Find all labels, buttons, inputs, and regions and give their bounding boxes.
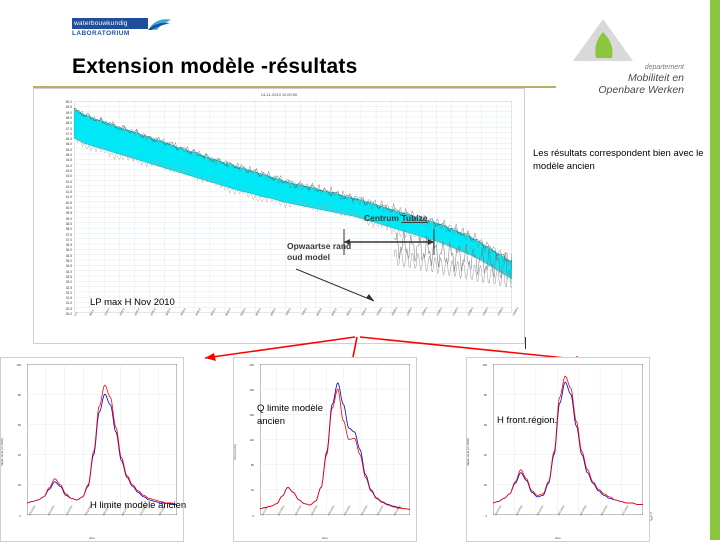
y-tick-label: 0 — [7, 514, 21, 518]
y-tick-label: 80 — [473, 393, 487, 397]
y-tick-label: 20 — [7, 483, 21, 487]
y-tick-label: 40 — [7, 453, 21, 457]
stray-tick-mark — [525, 337, 526, 349]
mow-logo: departement Mobiliteit en Openbare Werke… — [536, 18, 686, 96]
label-q-limite: Q limite modèleancien — [257, 403, 357, 428]
chart-h-limite-modele-ancien: numeriek nieuw model numeriek oud model … — [0, 357, 184, 542]
y-tick-label: 60 — [473, 423, 487, 427]
annotation-lp-max: LP max H Nov 2010 — [90, 297, 175, 308]
label-h-front: H front.région. — [497, 415, 557, 428]
plot-area — [260, 364, 410, 515]
y-axis-label: Water level (m TAW) — [0, 438, 4, 465]
y-axis-label: Water level (m TAW) — [466, 438, 470, 465]
x-axis-label: time — [234, 536, 416, 540]
page-title: Extension modèle -résultats — [72, 55, 357, 79]
right-green-accent-bar — [710, 0, 720, 540]
results-note: Les résultats correspondent bien avec le… — [533, 148, 713, 173]
y-tick-label: 120 — [240, 438, 254, 442]
plot-area — [27, 364, 177, 515]
y-tick-label: 0 — [473, 514, 487, 518]
y-tick-label: 100 — [7, 363, 21, 367]
y-axis-label: Flow (m3/s) — [233, 444, 237, 460]
chart-h-front-region: numeriek nieuw model numeriek oud model … — [466, 357, 650, 542]
y-tick-label: 60 — [7, 423, 21, 427]
x-axis-label: time — [467, 536, 649, 540]
y-tick-label: 40 — [240, 488, 254, 492]
y-tick-label: 40 — [473, 453, 487, 457]
y-tick-label: 80 — [7, 393, 21, 397]
mow-department-label: departement — [536, 64, 684, 71]
wl-swoosh-icon — [148, 18, 172, 31]
y-tick-label: 200 — [240, 388, 254, 392]
y-tick-label: 80 — [240, 463, 254, 467]
y-tick-label: 240 — [240, 363, 254, 367]
chart-q-limite-modele-ancien: Q limiet Opwaartse rand naar modèle (Bov… — [233, 357, 417, 542]
mow-line2: Openbare Werken — [536, 84, 684, 96]
y-tick-label: 160 — [240, 413, 254, 417]
mow-line1: Mobiliteit en — [536, 72, 684, 84]
mow-triangle-icon — [572, 18, 634, 62]
waterbouwkundig-laboratorium-logo: waterbouwkundig LABORATORIUM — [72, 18, 172, 52]
wl-logo-name: waterbouwkundig — [72, 18, 148, 29]
label-h-limite: H limite modèle ancien — [90, 500, 186, 513]
y-tick-label: 20 — [473, 483, 487, 487]
wl-logo-subtitle: LABORATORIUM — [72, 30, 130, 37]
wl-logo-box: waterbouwkundig — [72, 18, 148, 29]
plot-area — [493, 364, 643, 515]
y-tick-label: 0 — [240, 514, 254, 518]
y-tick-label: 100 — [473, 363, 487, 367]
x-axis-label: time — [1, 536, 183, 540]
